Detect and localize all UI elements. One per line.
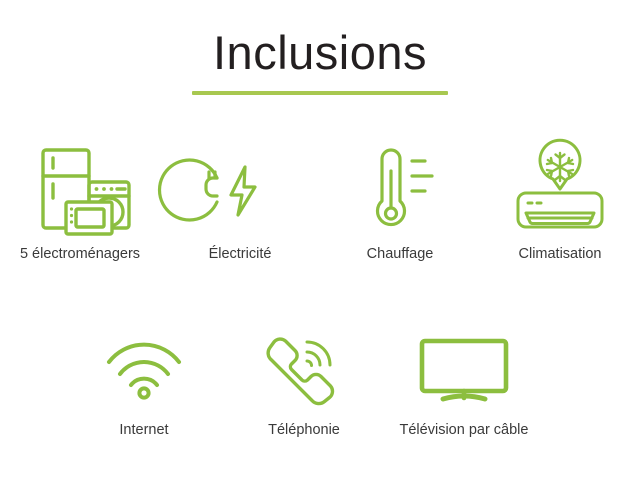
title-block: Inclusions <box>0 28 640 95</box>
feature-item-internet: Internet <box>64 330 224 438</box>
feature-item-appliances: 5 électroménagers <box>0 142 160 262</box>
title-underline-rule <box>192 91 448 95</box>
feature-item-telephone: Téléphonie <box>224 330 384 438</box>
feature-label-heating: Chauffage <box>367 246 434 262</box>
telephone-handset-icon <box>262 330 346 408</box>
feature-item-electricity: Électricité <box>160 142 320 262</box>
air-conditioner-snowflake-icon <box>506 142 614 238</box>
feature-item-heating: Chauffage <box>320 142 480 262</box>
thermometer-heat-icon <box>355 142 445 238</box>
feature-row-1: 5 électroménagers Él <box>0 142 640 262</box>
feature-label-appliances: 5 électroménagers <box>20 246 140 262</box>
page-title: Inclusions <box>0 28 640 77</box>
feature-item-air-conditioning: Climatisation <box>480 142 640 262</box>
feature-label-air-conditioning: Climatisation <box>519 246 602 262</box>
feature-label-internet: Internet <box>119 422 168 438</box>
feature-label-electricity: Électricité <box>209 246 272 262</box>
electricity-plug-bolt-icon <box>195 142 285 238</box>
slide-canvas: Inclusions <box>0 0 640 480</box>
feature-item-cable-tv: Télévision par câble <box>384 330 544 438</box>
wifi-icon <box>101 330 187 408</box>
feature-row-2: Internet Téléphonie <box>0 330 640 438</box>
appliances-icon <box>28 142 132 238</box>
feature-label-telephone: Téléphonie <box>268 422 340 438</box>
feature-label-cable-tv: Télévision par câble <box>400 422 529 438</box>
television-icon <box>416 330 512 408</box>
